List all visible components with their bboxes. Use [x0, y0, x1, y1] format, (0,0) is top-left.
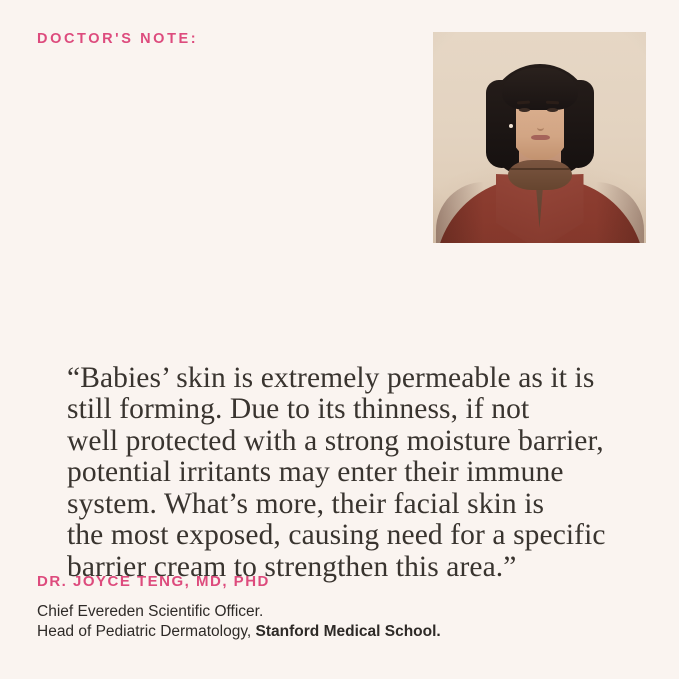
- credential-line-1: Chief Evereden Scientific Officer.: [37, 602, 441, 622]
- quote-line: still forming. Due to its thinness, if n…: [67, 394, 667, 426]
- doctor-quote: “Babies’ skin is extremely permeable as …: [67, 363, 667, 584]
- doctor-credentials: Chief Evereden Scientific Officer. Head …: [37, 602, 441, 642]
- doctors-note-card: DOCTOR'S NOTE: “Babie: [0, 0, 679, 679]
- credential-institution: Stanford Medical School.: [256, 623, 441, 640]
- photo-vignette: [433, 32, 646, 243]
- portrait-image: [433, 32, 646, 243]
- quote-line: the most exposed, causing need for a spe…: [67, 520, 667, 552]
- quote-line: system. What’s more, their facial skin i…: [67, 489, 667, 521]
- doctors-note-eyebrow: DOCTOR'S NOTE:: [37, 31, 198, 47]
- credential-line-2-plain: Head of Pediatric Dermatology,: [37, 623, 256, 640]
- doctor-name: DR. JOYCE TENG, MD, PHD: [37, 573, 270, 590]
- quote-line: “Babies’ skin is extremely permeable as …: [67, 363, 667, 395]
- quote-line: potential irritants may enter their immu…: [67, 457, 667, 489]
- credential-line-2: Head of Pediatric Dermatology, Stanford …: [37, 622, 441, 642]
- doctor-portrait-photo: [433, 32, 646, 243]
- quote-line: well protected with a strong moisture ba…: [67, 426, 667, 458]
